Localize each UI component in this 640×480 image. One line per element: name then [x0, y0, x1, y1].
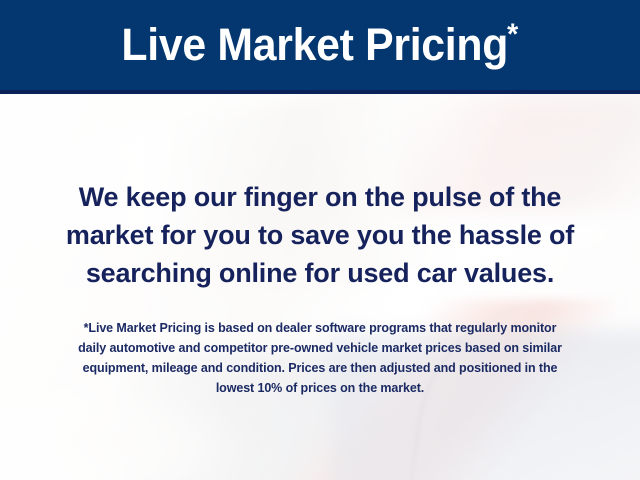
disclaimer-line-4: lowest 10% of prices on the market.	[0, 378, 640, 398]
headline-line-1: We keep our finger on the pulse of the	[0, 178, 640, 216]
disclaimer-line-3: equipment, mileage and condition. Prices…	[0, 358, 640, 378]
disclaimer: *Live Market Pricing is based on dealer …	[0, 318, 640, 398]
banner-title-footnote-marker: *	[507, 18, 518, 51]
disclaimer-line-1: *Live Market Pricing is based on dealer …	[0, 318, 640, 338]
live-market-pricing-banner: Live Market Pricing* We keep our finger …	[0, 0, 640, 480]
headline: We keep our finger on the pulse of the m…	[0, 178, 640, 292]
banner-title: Live Market Pricing*	[122, 20, 518, 67]
banner-title-text: Live Market Pricing	[122, 19, 509, 70]
title-band: Live Market Pricing*	[0, 0, 640, 90]
title-band-underline	[0, 90, 640, 94]
headline-line-3: searching online for used car values.	[0, 254, 640, 292]
disclaimer-line-2: daily automotive and competitor pre-owne…	[0, 338, 640, 358]
headline-line-2: market for you to save you the hassle of	[0, 216, 640, 254]
